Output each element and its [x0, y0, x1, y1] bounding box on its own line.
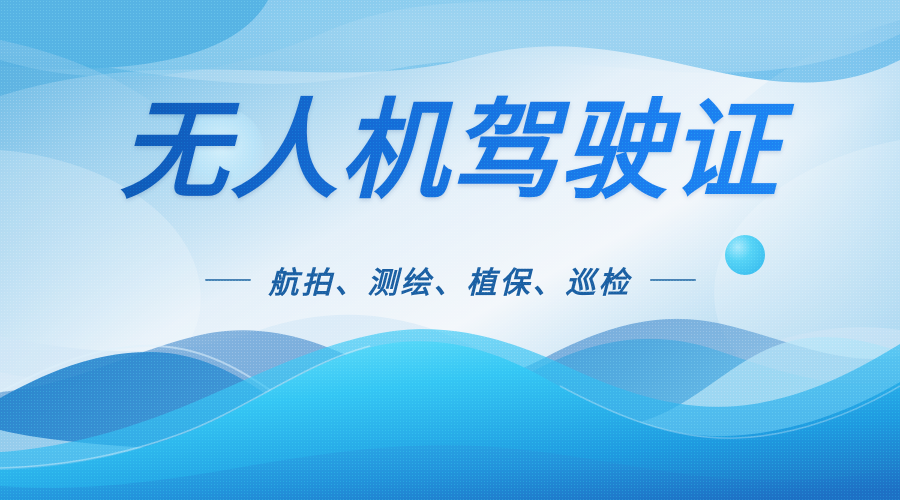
drone-license-banner: 无人机驾驶证 航拍、测绘、植保、巡检	[0, 0, 900, 500]
title-halo-circle	[180, 108, 264, 192]
decorative-sphere	[725, 235, 765, 275]
background-waves	[0, 0, 900, 500]
